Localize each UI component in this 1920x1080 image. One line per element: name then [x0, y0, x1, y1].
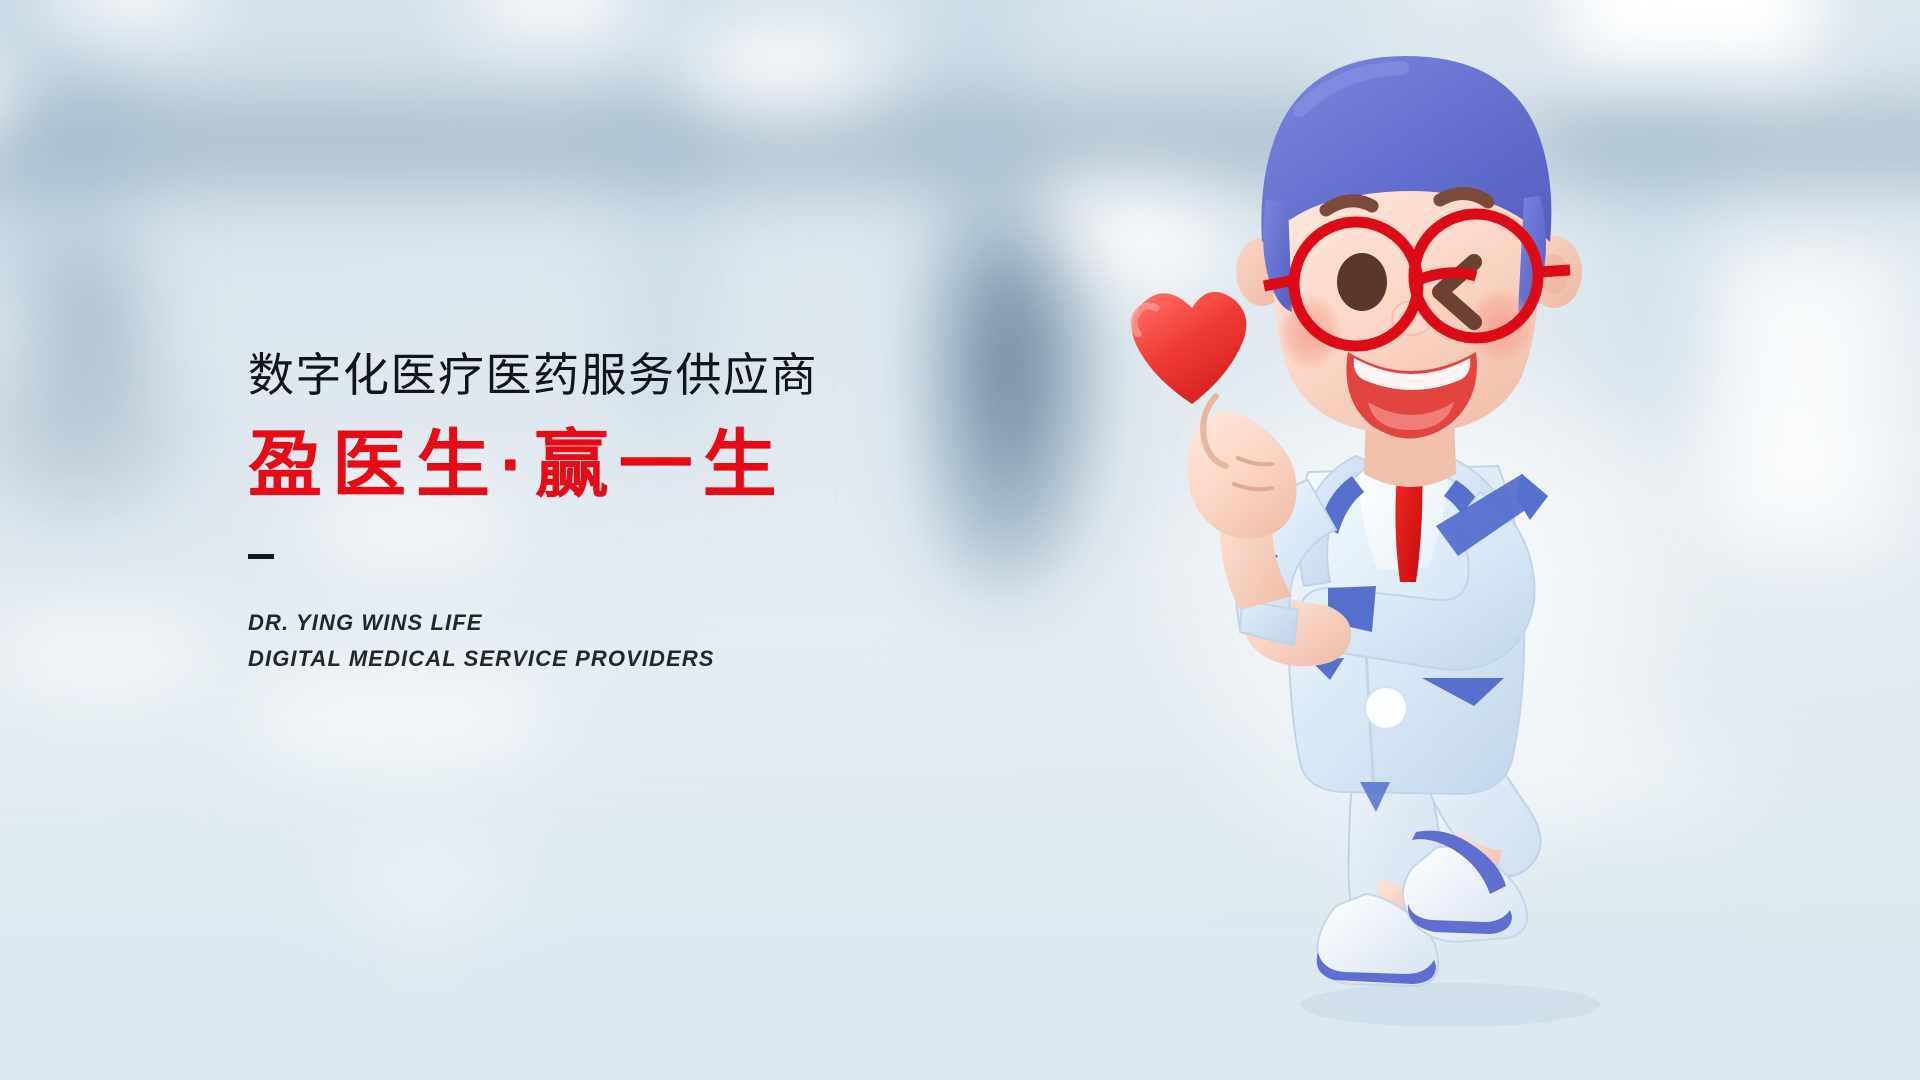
- floor-reflection: [350, 840, 500, 930]
- person-silhouette: [30, 250, 150, 410]
- brand-slogan: 盈医生·赢一生: [248, 428, 818, 502]
- coat-button: [1365, 687, 1407, 729]
- ceiling-light: [40, 0, 210, 30]
- floor-reflection: [250, 680, 550, 760]
- english-subtitle-line-2: DIGITAL MEDICAL SERVICE PROVIDERS: [248, 641, 818, 677]
- ceiling-light: [460, 0, 650, 38]
- english-subtitle-line-1: DR. YING WINS LIFE: [248, 605, 818, 641]
- ceiling-light: [0, 70, 20, 140]
- glasses-temple-right: [1538, 270, 1570, 272]
- eye-open-left: [1337, 253, 1387, 311]
- mascot-shadow: [1300, 983, 1600, 1027]
- dr-ying-mascot: [1150, 40, 1710, 1040]
- english-subtitle-block: DR. YING WINS LIFE DIGITAL MEDICAL SERVI…: [248, 605, 818, 677]
- hero-copy: 数字化医疗医药服务供应商 盈医生·赢一生 DR. YING WINS LIFE …: [248, 352, 818, 677]
- equipment-silhouette: [0, 350, 210, 540]
- divider-rule: [248, 554, 274, 559]
- bg-wall-panel: [0, 0, 130, 300]
- hero-banner: 数字化医疗医药服务供应商 盈医生·赢一生 DR. YING WINS LIFE …: [0, 0, 1920, 1080]
- bg-wall-panel: [940, 0, 1010, 580]
- glasses-temple-left: [1264, 280, 1294, 286]
- person-silhouette: [930, 210, 1095, 600]
- floor-reflection: [0, 620, 210, 690]
- ceiling-light: [680, 30, 880, 110]
- page-title: 数字化医疗医药服务供应商: [248, 352, 818, 398]
